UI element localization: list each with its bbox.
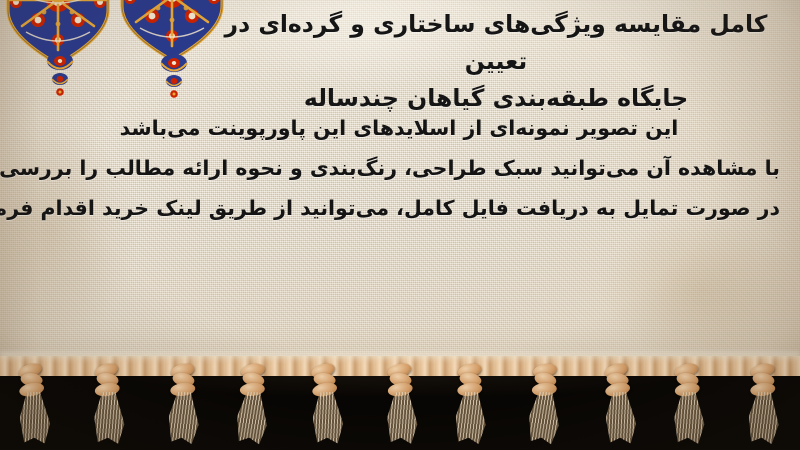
fringe-tassel — [227, 359, 278, 450]
fringe-threads — [674, 392, 705, 445]
fringe-tassel — [85, 360, 133, 449]
fringe-tassel — [447, 360, 495, 449]
fringe-threads — [387, 392, 418, 445]
paper-stain — [600, 215, 800, 365]
fringe-tassel — [740, 360, 788, 449]
fringe-threads — [748, 392, 779, 445]
fringe-tassel — [160, 360, 208, 449]
fringe-threads — [94, 392, 125, 445]
slide-body: این تصویر نمونه‌ای از اسلایدهای این پاور… — [18, 108, 780, 228]
fringe-threads — [312, 391, 345, 445]
fringe-tassel — [9, 359, 60, 450]
body-line-2: با مشاهده آن می‌توانید سبک طراحی، رنگ‌بن… — [18, 148, 780, 188]
fringe-threads — [605, 391, 638, 445]
illumination-pendant-icon — [44, 50, 76, 106]
presentation-slide: کامل مقایسه ویژگی‌های ساختاری و گرده‌ای … — [0, 0, 800, 450]
slide-title-line-1: کامل مقایسه ویژگی‌های ساختاری و گرده‌ای … — [208, 6, 784, 80]
fringe-tassel — [302, 359, 353, 450]
fringe-threads — [168, 392, 199, 445]
body-line-3: در صورت تمایل به دریافت فایل کامل، می‌تو… — [18, 188, 780, 228]
fringe-threads — [19, 391, 52, 445]
fringe-threads — [235, 391, 268, 445]
fringe-tassel — [520, 359, 571, 450]
fringe-tassel — [378, 360, 426, 449]
fringe-threads — [528, 391, 561, 445]
fringe-tassel — [595, 359, 646, 450]
fringe-tassel — [665, 360, 713, 449]
fringe-threads — [455, 392, 486, 445]
body-line-1: این تصویر نمونه‌ای از اسلایدهای این پاور… — [18, 108, 780, 148]
slide-title: کامل مقایسه ویژگی‌های ساختاری و گرده‌ای … — [208, 6, 784, 117]
illumination-pendant-icon — [158, 52, 190, 108]
carpet-fringe — [0, 360, 800, 450]
